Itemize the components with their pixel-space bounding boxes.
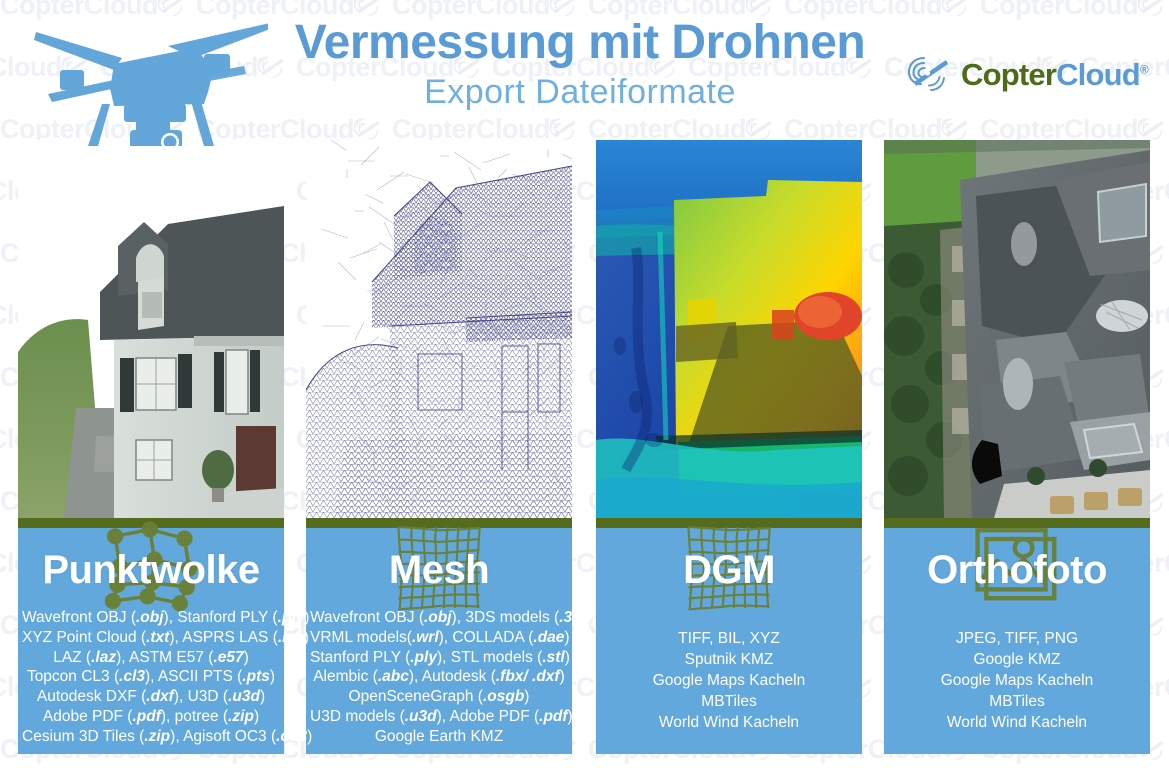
format-list-item: Wavefront OBJ (.obj), 3DS models (.3ds) xyxy=(310,608,568,628)
wireframe-mesh-house xyxy=(306,140,572,518)
format-list-item: MBTiles xyxy=(600,691,858,712)
format-list-item: OpenSceneGraph (.osgb) xyxy=(310,687,568,707)
registered-mark: ® xyxy=(1140,62,1148,76)
card-title-wrap: DGM xyxy=(596,534,862,606)
card-body-punktwolke: PunktwolkeWavefront OBJ (.obj), Stanford… xyxy=(18,528,284,754)
format-list-item: Adobe PDF (.pdf), potree (.zip) xyxy=(22,707,280,727)
format-list-mesh: Wavefront OBJ (.obj), 3DS models (.3ds)V… xyxy=(306,606,572,747)
format-list-item: Google Earth KMZ xyxy=(310,727,568,747)
format-list-item: Alembic (.abc), Autodesk (.fbx/ .dxf) xyxy=(310,667,568,687)
coptercloud-swirl-icon xyxy=(905,52,951,96)
drone-quadcopter-icon xyxy=(18,18,268,146)
format-list-item: Wavefront OBJ (.obj), Stanford PLY (.ply… xyxy=(22,608,280,628)
card-title-wrap: Mesh xyxy=(306,534,572,606)
logo-text-cloud: Cloud xyxy=(1056,57,1140,92)
format-card-dgm[interactable]: DGMTIFF, BIL, XYZSputnik KMZGoogle Maps … xyxy=(596,140,862,754)
format-list-item: World Wind Kacheln xyxy=(888,712,1146,733)
format-list-item: MBTiles xyxy=(888,691,1146,712)
format-card-orthofoto[interactable]: OrthofotoJPEG, TIFF, PNGGoogle KMZGoogle… xyxy=(884,140,1150,754)
logo-wordmark: CopterCloud® xyxy=(961,59,1148,90)
format-list-item: Cesium 3D Tiles (.zip), Agisoft OC3 (.oc… xyxy=(22,727,280,747)
format-list-punktwolke: Wavefront OBJ (.obj), Stanford PLY (.ply… xyxy=(18,606,284,747)
card-title-dgm: DGM xyxy=(683,550,775,590)
format-list-item: Autodesk DXF (.dxf), U3D (.u3d) xyxy=(22,687,280,707)
format-card-mesh[interactable]: MeshWavefront OBJ (.obj), 3DS models (.3… xyxy=(306,140,572,754)
title-block: Vermessung mit Drohnen Export Dateiforma… xyxy=(270,18,890,113)
card-title-wrap: Punktwolke xyxy=(18,534,284,606)
card-title-mesh: Mesh xyxy=(389,550,489,590)
card-body-dgm: DGMTIFF, BIL, XYZSputnik KMZGoogle Maps … xyxy=(596,528,862,754)
format-card-punktwolke[interactable]: PunktwolkeWavefront OBJ (.obj), Stanford… xyxy=(18,140,284,754)
card-body-orthofoto: OrthofotoJPEG, TIFF, PNGGoogle KMZGoogle… xyxy=(884,528,1150,754)
format-list-item: U3D models (.u3d), Adobe PDF (.pdf) xyxy=(310,707,568,727)
header: Vermessung mit Drohnen Export Dateiforma… xyxy=(0,0,1169,140)
format-list-item: XYZ Point Cloud (.txt), ASPRS LAS (.las) xyxy=(22,628,280,648)
coptercloud-logo: CopterCloud® xyxy=(905,48,1155,100)
format-list-item: Google Maps Kacheln xyxy=(600,670,858,691)
card-title-wrap: Orthofoto xyxy=(884,534,1150,606)
page-title: Vermessung mit Drohnen xyxy=(270,18,890,68)
textured-point-cloud-house-photo xyxy=(18,140,284,518)
format-list-item: Stanford PLY (.ply), STL models (.stl) xyxy=(310,648,568,668)
format-list-item: LAZ (.laz), ASTM E57 (.e57) xyxy=(22,648,280,668)
format-list-item: Sputnik KMZ xyxy=(600,649,858,670)
format-list-item: Google KMZ xyxy=(888,649,1146,670)
logo-text-copter: Copter xyxy=(961,57,1056,92)
format-list-item: TIFF, BIL, XYZ xyxy=(600,628,858,649)
page-subtitle: Export Dateiformate xyxy=(270,72,890,113)
colorized-elevation-model xyxy=(596,140,862,518)
aerial-orthophoto-house xyxy=(884,140,1150,518)
card-title-punktwolke: Punktwolke xyxy=(42,550,259,590)
format-list-item: VRML models(.wrl), COLLADA (.dae) xyxy=(310,628,568,648)
card-body-mesh: MeshWavefront OBJ (.obj), 3DS models (.3… xyxy=(306,528,572,754)
format-list-item: Topcon CL3 (.cl3), ASCII PTS (.pts) xyxy=(22,667,280,687)
format-list-item: World Wind Kacheln xyxy=(600,712,858,733)
format-list-item: Google Maps Kacheln xyxy=(888,670,1146,691)
format-list-dgm: TIFF, BIL, XYZSputnik KMZGoogle Maps Kac… xyxy=(596,606,862,733)
format-cards: PunktwolkeWavefront OBJ (.obj), Stanford… xyxy=(0,140,1169,768)
format-list-orthofoto: JPEG, TIFF, PNGGoogle KMZGoogle Maps Kac… xyxy=(884,606,1150,733)
format-list-item: JPEG, TIFF, PNG xyxy=(888,628,1146,649)
card-title-orthofoto: Orthofoto xyxy=(927,550,1107,590)
